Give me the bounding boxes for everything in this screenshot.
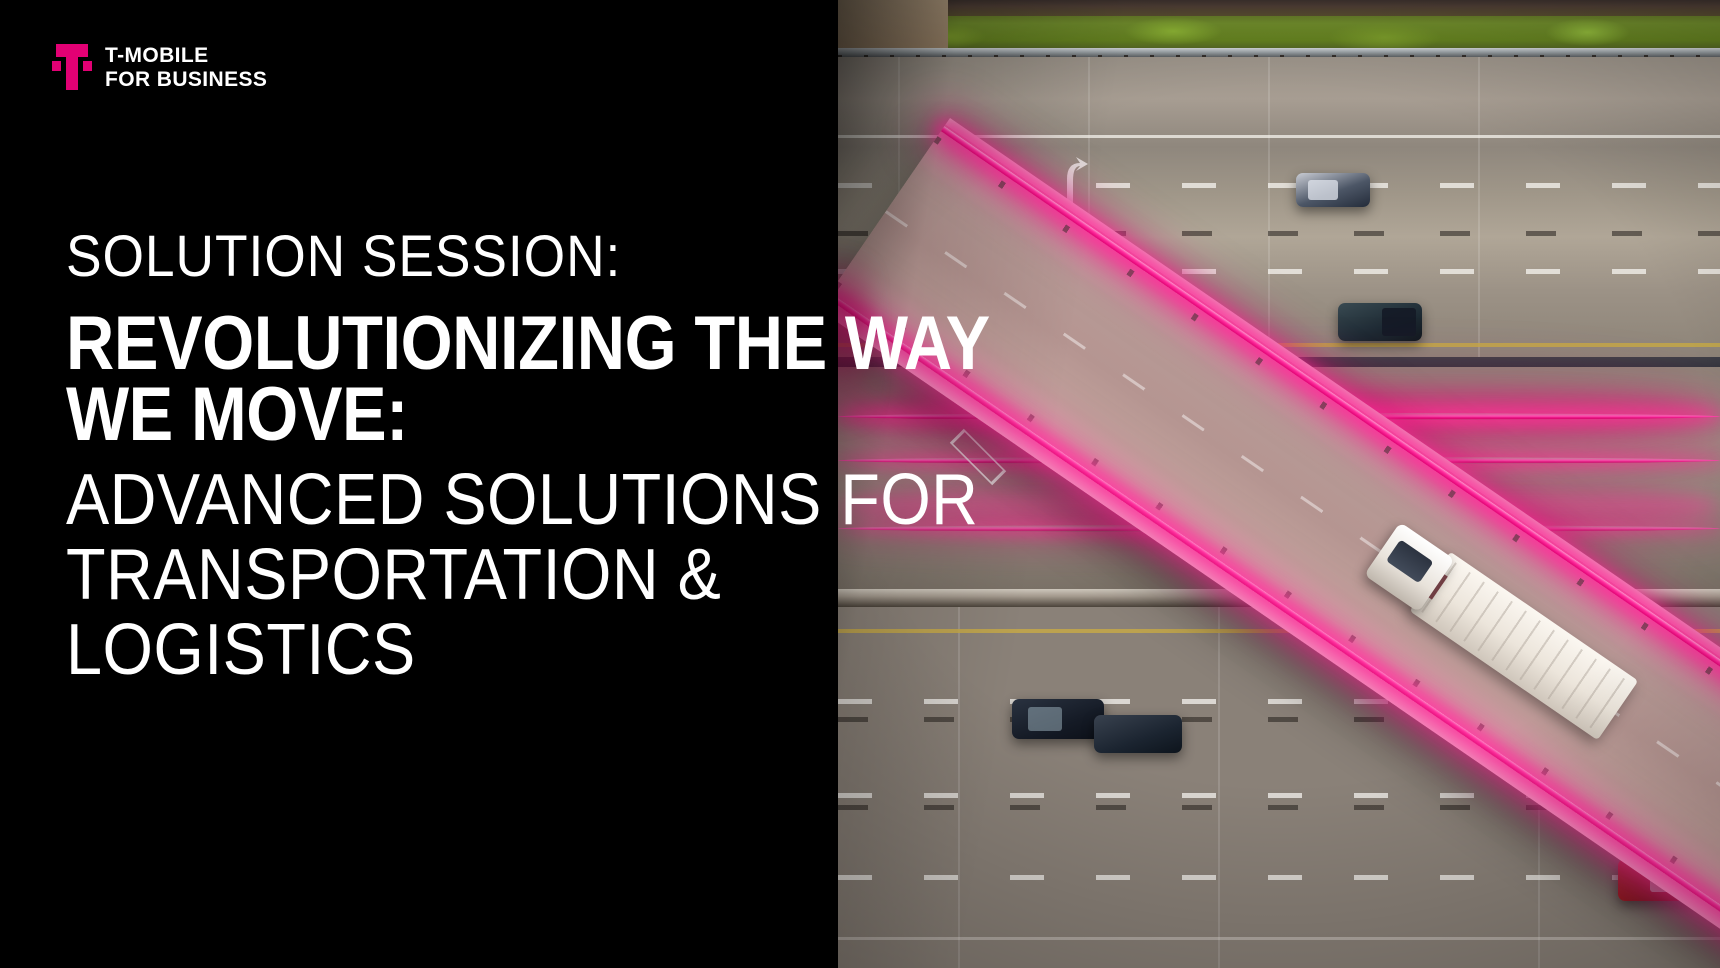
vehicle-car	[1012, 699, 1104, 739]
presentation-slide: T-MOBILE FOR BUSINESS SOLUTION SESSION: …	[0, 0, 1720, 968]
slide-subtitle: ADVANCED SOLUTIONS FOR TRANSPORTATION & …	[66, 463, 1066, 688]
headline-line: WE MOVE:	[66, 379, 946, 450]
subtitle-line: TRANSPORTATION &	[66, 538, 966, 613]
vehicle-truck	[1338, 303, 1422, 341]
roadside-debris	[838, 0, 1720, 16]
subtitle-line: LOGISTICS	[66, 613, 966, 688]
headline-line: REVOLUTIONIZING THE WAY	[66, 308, 946, 379]
slide-headline: REVOLUTIONIZING THE WAY WE MOVE:	[66, 308, 1066, 451]
logo-line-2: FOR BUSINESS	[105, 69, 267, 92]
vehicle-car	[1296, 173, 1370, 207]
eyebrow-label: SOLUTION SESSION:	[66, 228, 986, 286]
vehicle-car	[1094, 715, 1182, 753]
concrete-shoulder	[838, 0, 948, 52]
grass-strip	[838, 0, 1720, 52]
t-mobile-t-icon	[52, 44, 92, 90]
slide-copy: SOLUTION SESSION: REVOLUTIONIZING THE WA…	[66, 228, 1066, 688]
t-mobile-for-business-logo: T-MOBILE FOR BUSINESS	[52, 44, 267, 91]
logo-line-1: T-MOBILE	[105, 45, 267, 68]
subtitle-line: ADVANCED SOLUTIONS FOR	[66, 463, 966, 538]
logo-wordmark: T-MOBILE FOR BUSINESS	[105, 44, 267, 91]
